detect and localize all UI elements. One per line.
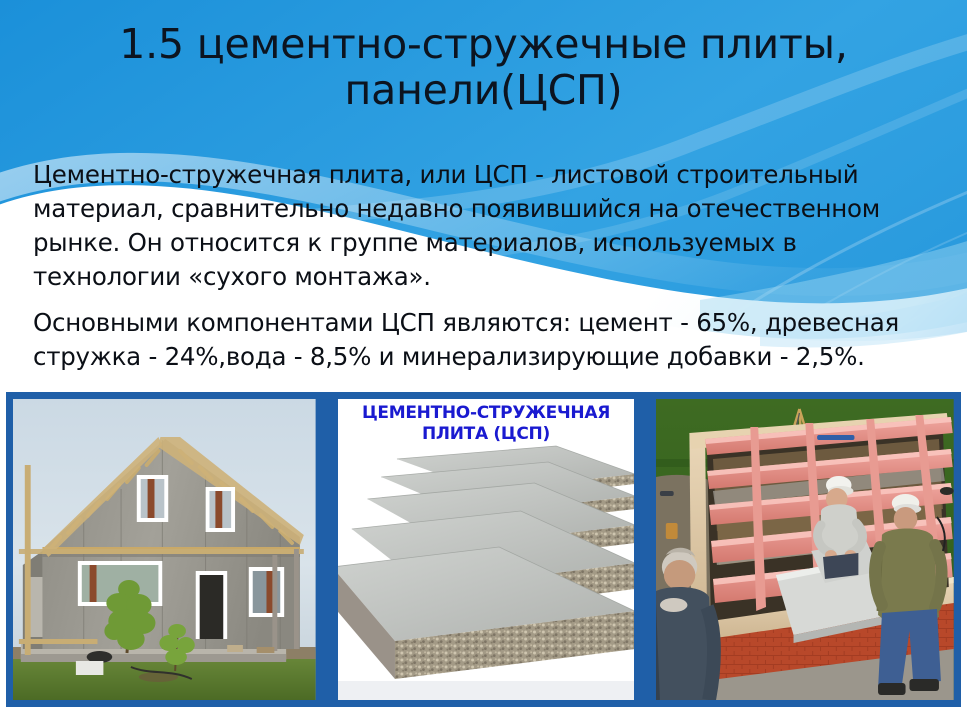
slide-root: 1.5 цементно-стружечные плиты, панели(ЦС… [0, 0, 967, 721]
image-strip: ЦЕМЕНТНО-СТРУЖЕЧНАЯ ПЛИТА (ЦСП) [6, 392, 961, 707]
slide-body: Цементно-стружечная плита, или ЦСП - лис… [33, 158, 938, 374]
image-frame-workers[interactable] [649, 392, 961, 707]
board-image-caption: ЦЕМЕНТНО-СТРУЖЕЧНАЯ ПЛИТА (ЦСП) [338, 403, 635, 446]
workers-laying-csp-floor [656, 399, 954, 700]
image-frame-house[interactable] [6, 392, 323, 707]
house-with-csp-panels [13, 399, 316, 700]
slide-title: 1.5 цементно-стружечные плиты, панели(ЦС… [40, 22, 927, 114]
image-frame-boards[interactable]: ЦЕМЕНТНО-СТРУЖЕЧНАЯ ПЛИТА (ЦСП) [331, 392, 642, 707]
paragraph-composition: Основными компонентами ЦСП являются: цем… [33, 306, 938, 374]
paragraph-definition: Цементно-стружечная плита, или ЦСП - лис… [33, 158, 938, 294]
